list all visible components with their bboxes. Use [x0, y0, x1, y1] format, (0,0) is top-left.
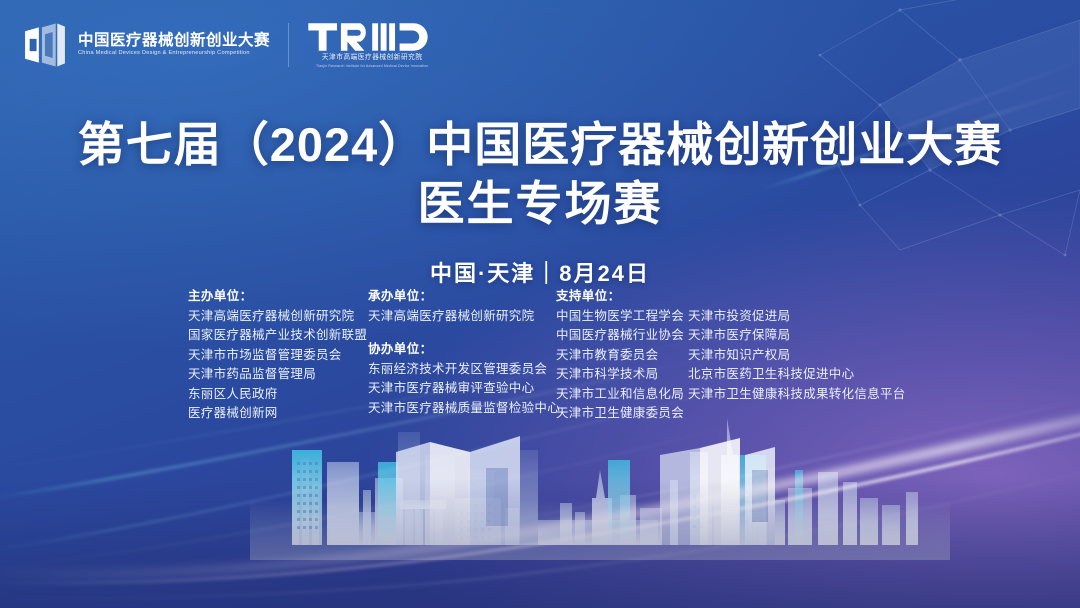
- logo-secondary-name-cn: 天津市高端医疗器械创新研究院: [322, 55, 423, 62]
- group-heading: 协办单位：: [368, 343, 556, 356]
- organizer-column-1: 主办单位： 天津高端医疗器械创新研究院 国家医疗器械产业技术创新联盟 天津市市场…: [188, 290, 368, 427]
- group-spacer: [368, 329, 556, 343]
- organizer-item: 天津市科学技术局: [556, 368, 688, 381]
- organizer-item: 天津市知识产权局: [688, 349, 906, 362]
- logo-primary[interactable]: 中国医疗器械创新创业大赛 China Medical Devices Desig…: [22, 22, 270, 68]
- organizer-item: 天津高端医疗器械创新研究院: [368, 310, 556, 323]
- organizer-item: 中国生物医学工程学会: [556, 310, 688, 323]
- logo-primary-name-en: China Medical Devices Design & Entrepren…: [78, 51, 270, 57]
- logo-secondary[interactable]: 天津市高端医疗器械创新研究院 Tianjin Research Institut…: [307, 22, 437, 68]
- main-title-line2: 医生专场赛: [0, 175, 1080, 232]
- group-heading: 主办单位：: [188, 290, 368, 303]
- organizer-item: 天津市教育委员会: [556, 349, 688, 362]
- organizer-item: 天津高端医疗器械创新研究院: [188, 310, 368, 323]
- organizer-column-3: 支持单位： 中国生物医学工程学会 中国医疗器械行业协会 天津市教育委员会 天津市…: [556, 290, 688, 427]
- organizer-item: 国家医疗器械产业技术创新联盟: [188, 329, 368, 342]
- group-heading: 承办单位：: [368, 290, 556, 303]
- organizer-item: 天津市投资促进局: [688, 310, 906, 323]
- title-block: 第七届（2024）中国医疗器械创新创业大赛 医生专场赛: [0, 116, 1080, 233]
- organizer-item: 天津市工业和信息化局: [556, 388, 688, 401]
- triid-wordmark-icon: [307, 22, 437, 52]
- logo-divider: [288, 23, 289, 67]
- organizer-item: 天津市医疗保障局: [688, 329, 906, 342]
- bottom-glow: [0, 478, 1080, 608]
- logo-secondary-name-en: Tianjin Research Institute for Advanced …: [316, 65, 428, 68]
- organizer-item: 北京市医药卫生科技促进中心: [688, 368, 906, 381]
- organizer-item: 天津市药品监督管理局: [188, 368, 368, 381]
- group-heading: 支持单位：: [556, 290, 688, 303]
- organizer-item: 天津市卫生健康委员会: [556, 407, 688, 420]
- organizer-item: 东丽经济技术开发区管理委员会: [368, 363, 556, 376]
- organizer-item: 东丽区人民政府: [188, 388, 368, 401]
- organizer-item: 天津市医疗器械审评查验中心: [368, 382, 556, 395]
- main-title-line1: 第七届（2024）中国医疗器械创新创业大赛: [0, 116, 1080, 173]
- organizer-block: 主办单位： 天津高端医疗器械创新研究院 国家医疗器械产业技术创新联盟 天津市市场…: [188, 290, 906, 427]
- header-logos: 中国医疗器械创新创业大赛 China Medical Devices Desig…: [22, 22, 437, 68]
- logo-primary-name-cn: 中国医疗器械创新创业大赛: [78, 33, 270, 49]
- organizer-column-4: 天津市投资促进局 天津市医疗保障局 天津市知识产权局 北京市医药卫生科技促进中心…: [688, 290, 906, 407]
- group-heading-spacer: [688, 290, 906, 303]
- organizer-item: 中国医疗器械行业协会: [556, 329, 688, 342]
- organizer-item: 医疗器械创新网: [188, 407, 368, 420]
- event-location-date: 中国·天津｜8月24日: [0, 256, 1080, 288]
- organizer-column-2: 承办单位： 天津高端医疗器械创新研究院 协办单位： 东丽经济技术开发区管理委员会…: [368, 290, 556, 421]
- organizer-item: 天津市市场监督管理委员会: [188, 349, 368, 362]
- organizer-item: 天津市卫生健康科技成果转化信息平台: [688, 388, 906, 401]
- poster-canvas: 中国医疗器械创新创业大赛 China Medical Devices Desig…: [0, 0, 1080, 608]
- open-door-logo-icon: [22, 22, 68, 68]
- organizer-item: 天津市医疗器械质量监督检验中心: [368, 402, 556, 415]
